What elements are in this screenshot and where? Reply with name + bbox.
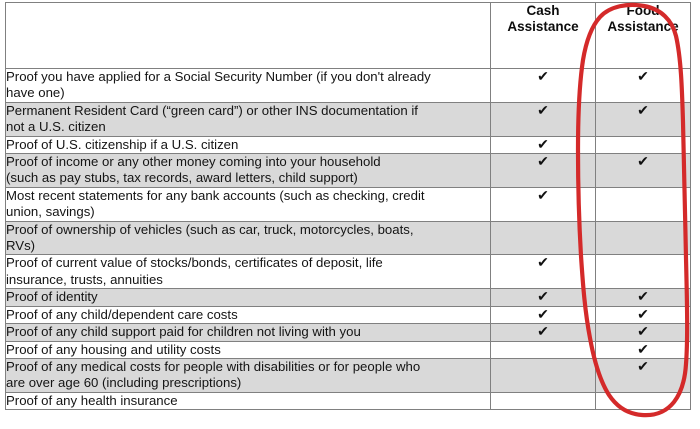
row-item-line1: Proof of any medical costs for people wi… [6,359,420,374]
row-checkmark-cash: ✔ [491,69,596,103]
row-item-label: Proof of current value of stocks/bonds, … [6,255,491,289]
header-cash-line2: Assistance [491,19,595,35]
row-checkmark-food: ✔ [596,324,691,341]
document-root: Cash Assistance Food Assistance Proof yo… [0,0,700,429]
table-row: Proof of any medical costs for people wi… [6,358,691,392]
row-checkmark-food: ✔ [596,69,691,103]
row-item-label: Most recent statements for any bank acco… [6,187,491,221]
row-checkmark-food [596,392,691,409]
check-icon: ✔ [637,154,649,168]
table-row: Proof of any health insurance [6,392,691,409]
table-row: Proof you have applied for a Social Secu… [6,69,691,103]
row-item-line2: insurance, trusts, annuities [6,272,490,288]
row-checkmark-cash: ✔ [491,187,596,221]
row-checkmark-food [596,136,691,153]
row-checkmark-food: ✔ [596,102,691,136]
row-checkmark-cash: ✔ [491,154,596,188]
row-item-line1: Proof of any health insurance [6,393,178,408]
header-cell-item-blank [6,3,491,69]
row-checkmark-food [596,187,691,221]
row-checkmark-food: ✔ [596,306,691,323]
row-item-line1: Proof of current value of stocks/bonds, … [6,255,383,270]
row-item-label: Proof of income or any other money comin… [6,154,491,188]
check-icon: ✔ [537,255,549,269]
row-checkmark-cash: ✔ [491,324,596,341]
table-row: Permanent Resident Card (“green card”) o… [6,102,691,136]
table-row: Proof of identity✔✔ [6,289,691,306]
row-item-line1: Proof you have applied for a Social Secu… [6,69,431,84]
row-checkmark-cash: ✔ [491,306,596,323]
row-item-line2: RVs) [6,238,490,254]
table-row: Proof of any child/dependent care costs✔… [6,306,691,323]
row-item-label: Proof of any child/dependent care costs [6,306,491,323]
row-item-line1: Proof of identity [6,289,98,304]
check-icon: ✔ [537,69,549,83]
header-cell-food-assistance: Food Assistance [596,3,691,69]
row-checkmark-cash [491,358,596,392]
check-icon: ✔ [537,307,549,321]
row-item-line1: Proof of ownership of vehicles (such as … [6,222,414,237]
row-checkmark-cash: ✔ [491,255,596,289]
row-item-label: Permanent Resident Card (“green card”) o… [6,102,491,136]
header-row: Cash Assistance Food Assistance [6,3,691,69]
check-icon: ✔ [537,289,549,303]
row-item-label: Proof of any housing and utility costs [6,341,491,358]
row-checkmark-food: ✔ [596,341,691,358]
check-icon: ✔ [637,324,649,338]
row-item-label: Proof of ownership of vehicles (such as … [6,221,491,255]
table-header: Cash Assistance Food Assistance [6,3,691,69]
row-item-label: Proof of identity [6,289,491,306]
verification-requirements-table: Cash Assistance Food Assistance Proof yo… [5,2,691,410]
row-item-line1: Proof of any child/dependent care costs [6,307,238,322]
row-checkmark-cash: ✔ [491,102,596,136]
row-item-line1: Proof of any child support paid for chil… [6,324,361,339]
check-icon: ✔ [637,103,649,117]
row-item-label: Proof you have applied for a Social Secu… [6,69,491,103]
row-checkmark-food [596,255,691,289]
row-item-label: Proof of any medical costs for people wi… [6,358,491,392]
row-checkmark-cash [491,341,596,358]
check-icon: ✔ [537,154,549,168]
check-icon: ✔ [637,342,649,356]
table-row: Most recent statements for any bank acco… [6,187,691,221]
table-row: Proof of ownership of vehicles (such as … [6,221,691,255]
check-icon: ✔ [537,324,549,338]
row-item-line1: Proof of U.S. citizenship if a U.S. citi… [6,137,238,152]
row-checkmark-cash: ✔ [491,136,596,153]
table-row: Proof of any child support paid for chil… [6,324,691,341]
check-icon: ✔ [537,137,549,151]
header-cell-cash-assistance: Cash Assistance [491,3,596,69]
check-icon: ✔ [637,289,649,303]
check-icon: ✔ [537,103,549,117]
row-item-line2: are over age 60 (including prescriptions… [6,375,490,391]
row-item-line2: have one) [6,85,490,101]
row-checkmark-food: ✔ [596,154,691,188]
row-checkmark-cash: ✔ [491,289,596,306]
header-food-line1: Food [596,3,690,19]
row-checkmark-food: ✔ [596,358,691,392]
row-item-line2: not a U.S. citizen [6,119,490,135]
header-food-line2: Assistance [596,19,690,35]
table-row: Proof of U.S. citizenship if a U.S. citi… [6,136,691,153]
table-body: Proof you have applied for a Social Secu… [6,69,691,410]
row-item-label: Proof of U.S. citizenship if a U.S. citi… [6,136,491,153]
row-item-label: Proof of any child support paid for chil… [6,324,491,341]
row-checkmark-cash [491,221,596,255]
table-row: Proof of income or any other money comin… [6,154,691,188]
check-icon: ✔ [637,359,649,373]
row-item-label: Proof of any health insurance [6,392,491,409]
row-item-line1: Permanent Resident Card (“green card”) o… [6,103,418,118]
header-cash-line1: Cash [491,3,595,19]
row-item-line1: Most recent statements for any bank acco… [6,188,425,203]
table-row: Proof of any housing and utility costs✔ [6,341,691,358]
table-row: Proof of current value of stocks/bonds, … [6,255,691,289]
row-checkmark-food: ✔ [596,289,691,306]
check-icon: ✔ [637,307,649,321]
row-item-line2: union, savings) [6,204,490,220]
check-icon: ✔ [637,69,649,83]
row-item-line1: Proof of any housing and utility costs [6,342,221,357]
row-item-line2: (such as pay stubs, tax records, award l… [6,170,490,186]
row-checkmark-food [596,221,691,255]
row-item-line1: Proof of income or any other money comin… [6,154,381,169]
row-checkmark-cash [491,392,596,409]
check-icon: ✔ [537,188,549,202]
